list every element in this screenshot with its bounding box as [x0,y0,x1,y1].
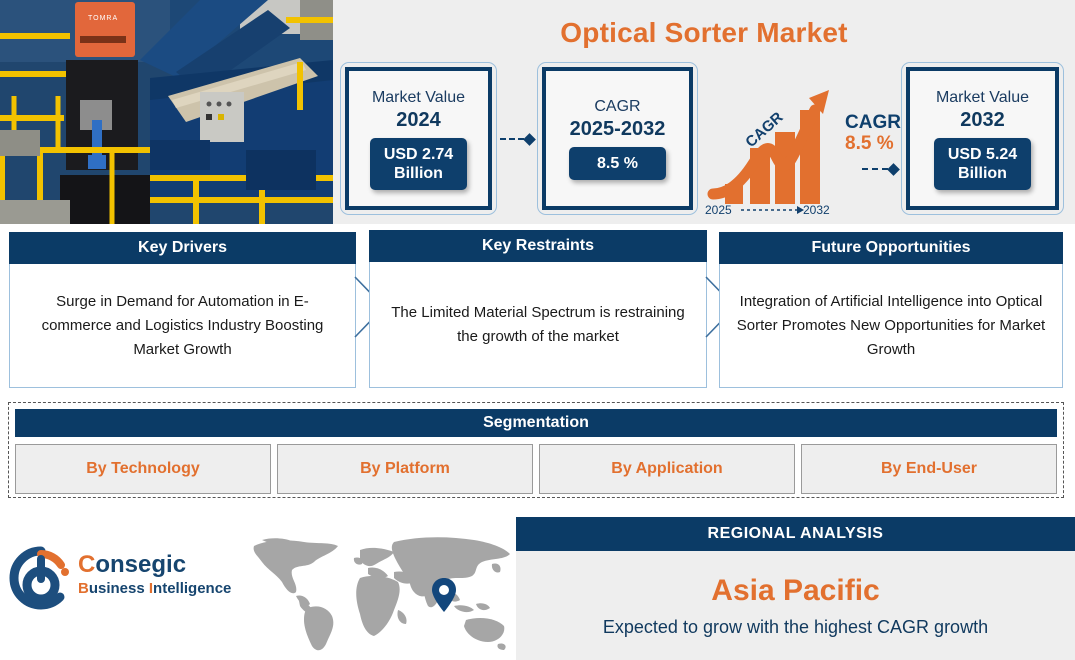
segment-tile-platform[interactable]: By Platform [277,444,533,494]
metric-value: 8.5 % [597,155,638,172]
metric-label: Market Value [936,88,1029,108]
segment-tile-technology[interactable]: By Technology [15,444,271,494]
metric-year: 2032 [960,108,1005,132]
location-pin-icon [432,578,456,612]
cagr-growth-chart: CAGR 2025 2032 [705,76,840,216]
logo-tagline: Business Intelligence [78,579,231,598]
metric-value-pill: USD 5.24 Billion [934,138,1031,190]
connector-dash [500,138,524,140]
connector-diamond [887,163,900,176]
logo-name-rest: onsegic [95,551,186,578]
segmentation-section: Segmentation By Technology By Platform B… [8,402,1064,498]
metric-label: Market Value [372,88,465,108]
logo-name-initial: C [78,551,95,578]
metric-year: 2024 [396,108,441,132]
metric-value: USD 2.74 [384,146,453,163]
metric-year: 2025-2032 [570,117,666,141]
segment-tile-application[interactable]: By Application [539,444,795,494]
segmentation-tiles: By Technology By Platform By Application… [15,444,1057,494]
panel-heading: Key Drivers [9,232,356,264]
logo-company-name: Consegic [78,551,231,579]
segmentation-heading: Segmentation [15,409,1057,437]
logo-text: Consegic Business Intelligence [78,551,231,598]
region-subtitle: Expected to grow with the highest CAGR g… [603,615,988,639]
metric-card-cagr: CAGR 2025-2032 8.5 % [537,62,698,215]
metric-value-pill: USD 2.74 Billion [370,138,467,190]
world-map [248,534,516,654]
metric-value-unit: Billion [958,165,1007,182]
infographic-root: TOMRA [0,0,1075,660]
segment-tile-end-user[interactable]: By End-User [801,444,1057,494]
connector-dash [862,168,888,170]
logo-tagline-b: B [78,580,89,597]
region-name: Asia Pacific [711,573,879,609]
chart-end-year: 2032 [803,203,830,216]
chart-start-year: 2025 [705,203,732,216]
panel-heading: Key Restraints [369,230,707,262]
panel-key-restraints: Key Restraints The Limited Material Spec… [369,230,707,388]
connector-1 [500,133,534,145]
metric-card-market-value-2032: Market Value 2032 USD 5.24 Billion [901,62,1064,215]
metric-value: USD 5.24 [948,146,1017,163]
panel-future-opportunities: Future Opportunities Integration of Arti… [719,232,1063,388]
metric-value-unit: Billion [394,165,443,182]
connector-diamond [523,133,536,146]
panel-text: The Limited Material Spectrum is restrai… [369,262,707,388]
connector-2 [862,163,898,175]
hero-photo: TOMRA [0,0,333,224]
panel-heading: Future Opportunities [719,232,1063,264]
logo-tagline-business: usiness [89,580,149,597]
panel-text: Surge in Demand for Automation in E-comm… [9,264,356,388]
panel-key-drivers: Key Drivers Surge in Demand for Automati… [9,232,356,388]
regional-analysis-body: Asia Pacific Expected to grow with the h… [516,551,1075,660]
metric-value-pill: 8.5 % [569,147,666,180]
page-title: Optical Sorter Market [333,10,1075,56]
regional-analysis-heading: REGIONAL ANALYSIS [516,517,1075,551]
logo-mark-icon [8,545,74,611]
metric-card-market-value-2024: Market Value 2024 USD 2.74 Billion [340,62,497,215]
regional-analysis-panel: REGIONAL ANALYSIS Asia Pacific Expected … [516,517,1075,660]
svg-text:TOMRA: TOMRA [88,15,118,22]
consegic-logo[interactable]: Consegic Business Intelligence [8,545,240,617]
metric-label: CAGR [594,97,640,117]
panel-text: Integration of Artificial Intelligence i… [719,264,1063,388]
logo-tagline-intelligence: ntelligence [153,580,231,597]
